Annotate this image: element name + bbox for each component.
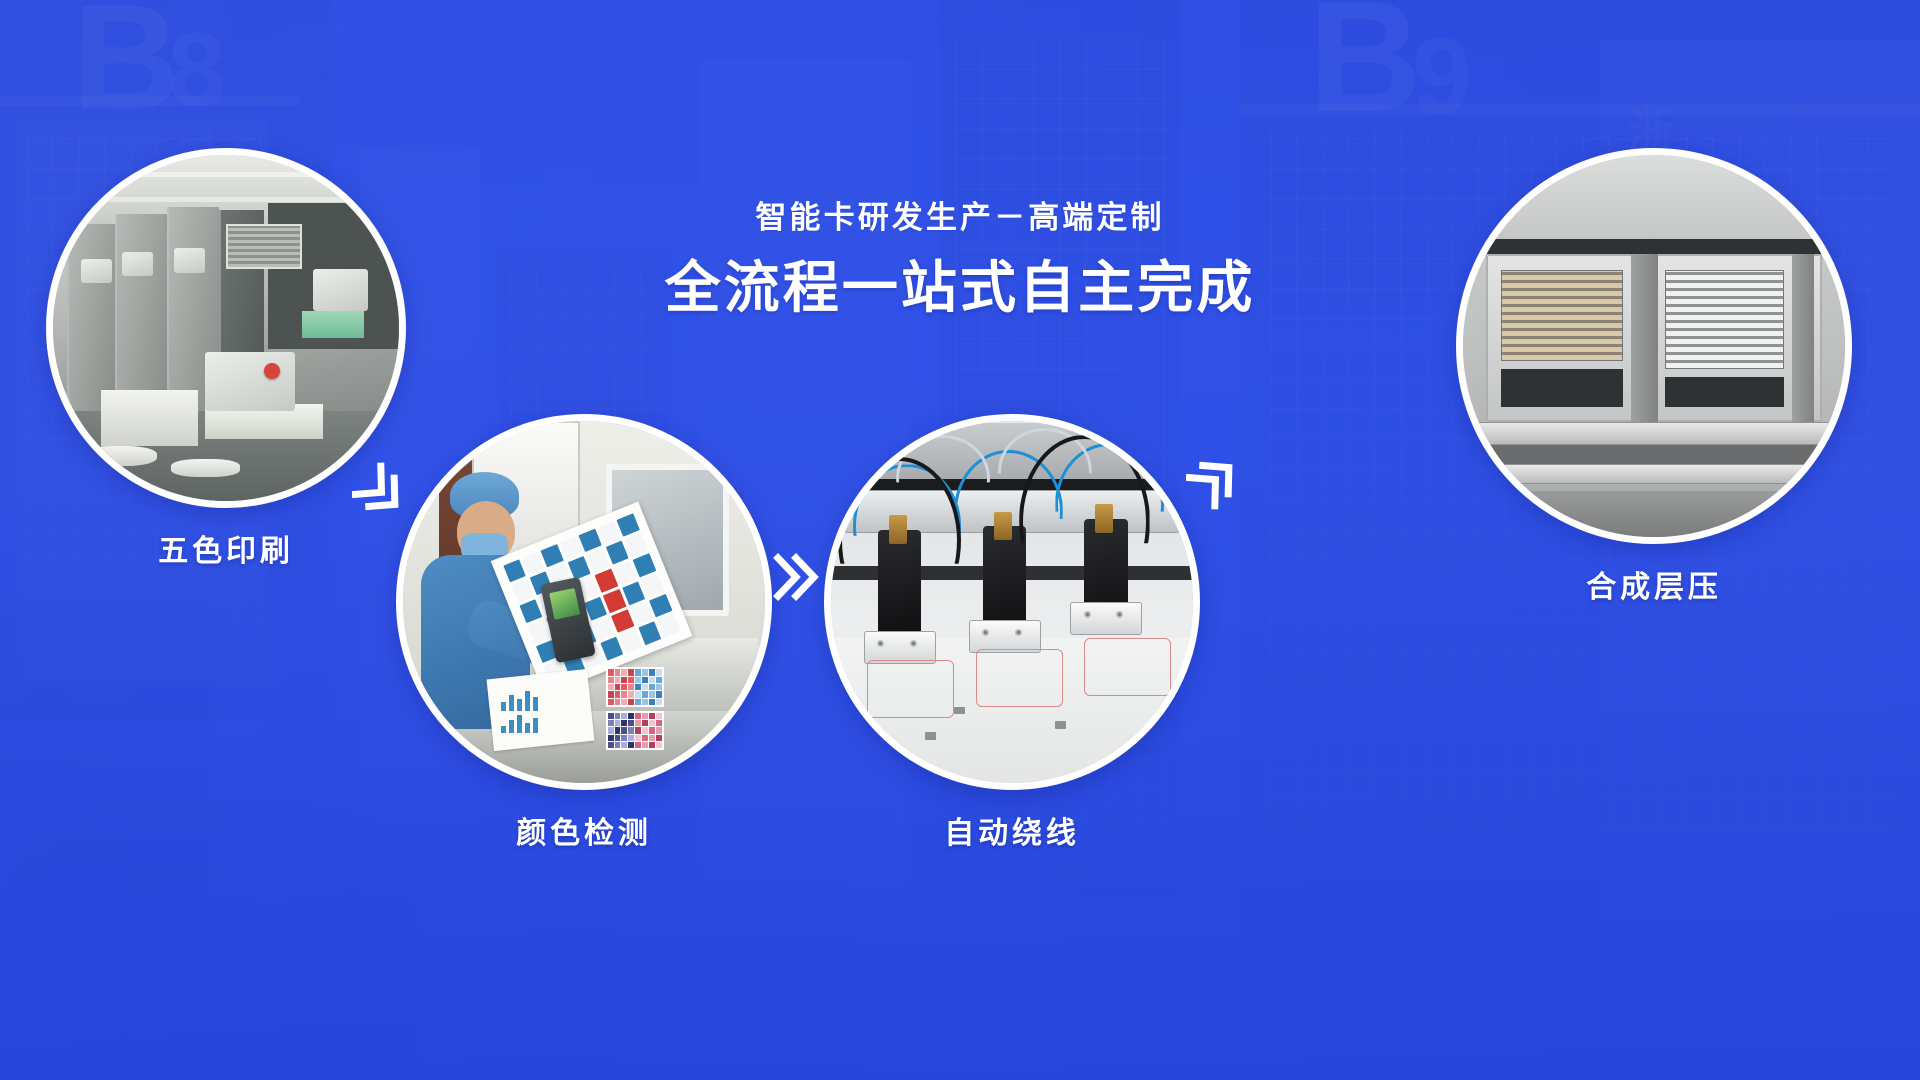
connector-3-chevron-icon xyxy=(1186,452,1242,510)
headline-block: 智能卡研发生产－高端定制 全流程一站式自主完成 xyxy=(0,198,1920,321)
step-3-photo-circle[interactable] xyxy=(824,414,1200,790)
process-step-2[interactable]: 颜色检测 xyxy=(396,414,772,852)
connector-1-chevron-icon xyxy=(352,462,408,520)
banner-headline: 全流程一站式自主完成 xyxy=(0,254,1920,321)
connector-2-chevron-icon xyxy=(766,548,822,606)
process-step-3[interactable]: 自动绕线 xyxy=(824,414,1200,852)
color-inspection-operator-photo xyxy=(403,421,765,783)
step-2-photo-circle[interactable] xyxy=(396,414,772,790)
step-1-label: 五色印刷 xyxy=(46,526,406,570)
step-3-label: 自动绕线 xyxy=(824,808,1200,852)
automatic-coil-winding-machine-photo xyxy=(831,421,1193,783)
step-4-label: 合成层压 xyxy=(1456,562,1852,606)
banner-subtitle: 智能卡研发生产－高端定制 xyxy=(0,198,1920,238)
step-2-label: 颜色检测 xyxy=(396,808,772,852)
promo-banner: B 8 B 9 浙 智能卡研发生产－高端定制 全流程一站式自主完成 xyxy=(0,0,1920,1080)
